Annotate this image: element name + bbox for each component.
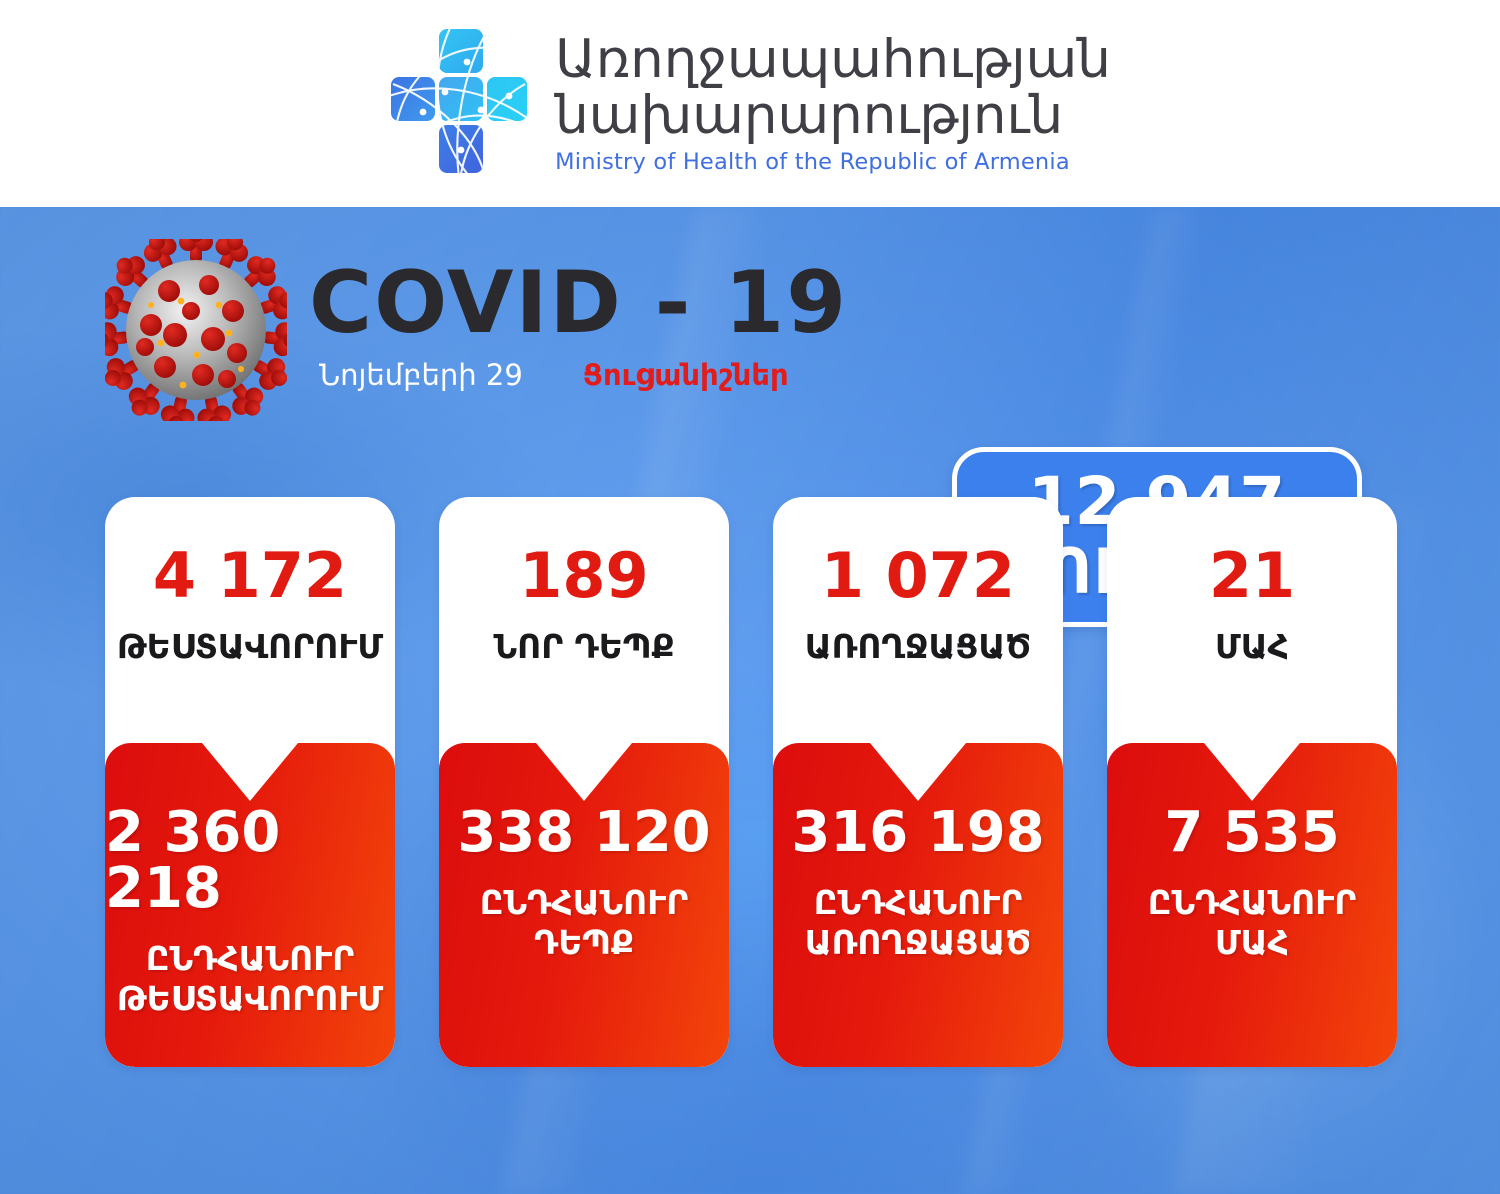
total-label-line2: ԱՌՈՂՋԱՑԱԾ [805,923,1031,963]
daily-value: 21 [1209,545,1295,607]
stat-card-top: 4 172 ԹԵՍՏԱՎՈՐՈՒՄ [105,497,395,750]
total-label: ԸՆԴՀԱՆՈՒՐ ՄԱՀ [1148,883,1357,964]
indicators-label: Ցուցանիշներ [583,358,789,392]
total-label-line2: ԹԵՍՏԱՎՈՐՈՒՄ [117,979,383,1019]
daily-label: ՆՈՐ ԴԵՊՔ [493,627,674,666]
stat-card-new-cases: 189 ՆՈՐ ԴԵՊՔ 338 120 ԸՆԴՀԱՆՈՒՐ ԴԵՊՔ [439,497,729,1067]
daily-label: ԱՌՈՂՋԱՑԱԾ [805,627,1031,666]
total-label: ԸՆԴՀԱՆՈՒՐ ԹԵՍՏԱՎՈՐՈՒՄ [117,939,383,1020]
ministry-name-english: Ministry of Health of the Republic of Ar… [555,149,1111,175]
stat-card-testing: 4 172 ԹԵՍՏԱՎՈՐՈՒՄ 2 360 218 ԸՆԴՀԱՆՈՒՐ ԹԵ… [105,497,395,1067]
banner-title-col: COVID - 19 Նոյեմբերի 29 Ցուցանիշներ [309,232,848,392]
total-label-line2: ՄԱՀ [1148,923,1357,963]
total-value: 338 120 [457,805,710,861]
ministry-name-block: Առողջապահության նախարարություն Ministry … [555,32,1111,174]
header-brand: Առողջապահության նախարարություն Ministry … [389,26,1111,181]
daily-value: 189 [519,545,648,607]
page-header: Առողջապահության նախարարություն Ministry … [0,0,1500,207]
banner-subtitle-row: Նոյեմբերի 29 Ցուցանիշներ [309,358,848,392]
total-label: ԸՆԴՀԱՆՈՒՐ ԴԵՊՔ [480,883,689,964]
total-label-line1: ԸՆԴՀԱՆՈՒՐ [805,883,1031,923]
coronavirus-icon [105,239,287,421]
infographic-banner: COVID - 19 Նոյեմբերի 29 Ցուցանիշներ 12 9… [0,207,1500,1194]
total-label-line1: ԸՆԴՀԱՆՈՒՐ [1148,883,1357,923]
stat-card-top: 189 ՆՈՐ ԴԵՊՔ [439,497,729,750]
daily-value: 1 072 [821,545,1015,607]
banner-title-row: COVID - 19 Նոյեմբերի 29 Ցուցանիշներ [105,232,848,421]
ministry-logo-icon [389,26,529,181]
total-value: 316 198 [791,805,1044,861]
total-label-line2: ԴԵՊՔ [480,923,689,963]
stat-card-recovered: 1 072 ԱՌՈՂՋԱՑԱԾ 316 198 ԸՆԴՀԱՆՈՒՐ ԱՌՈՂՋԱ… [773,497,1063,1067]
ministry-name-line1: Առողջապահության [555,32,1111,87]
daily-value: 4 172 [153,545,347,607]
total-label-line1: ԸՆԴՀԱՆՈՒՐ [117,939,383,979]
report-date: Նոյեմբերի 29 [319,358,523,392]
page-title: COVID - 19 [309,260,848,346]
ministry-name-line2: նախարարություն [555,88,1111,143]
stat-card-top: 21 ՄԱՀ [1107,497,1397,750]
stat-card-deaths: 21 ՄԱՀ 7 535 ԸՆԴՀԱՆՈՒՐ ՄԱՀ [1107,497,1397,1067]
stat-cards-row: 4 172 ԹԵՍՏԱՎՈՐՈՒՄ 2 360 218 ԸՆԴՀԱՆՈՒՐ ԹԵ… [105,497,1397,1067]
total-value: 2 360 218 [105,805,395,917]
total-label-line1: ԸՆԴՀԱՆՈՒՐ [480,883,689,923]
total-value: 7 535 [1164,805,1339,861]
total-label: ԸՆԴՀԱՆՈՒՐ ԱՌՈՂՋԱՑԱԾ [805,883,1031,964]
daily-label: ԹԵՍՏԱՎՈՐՈՒՄ [117,627,383,666]
daily-label: ՄԱՀ [1215,627,1289,666]
stat-card-top: 1 072 ԱՌՈՂՋԱՑԱԾ [773,497,1063,750]
